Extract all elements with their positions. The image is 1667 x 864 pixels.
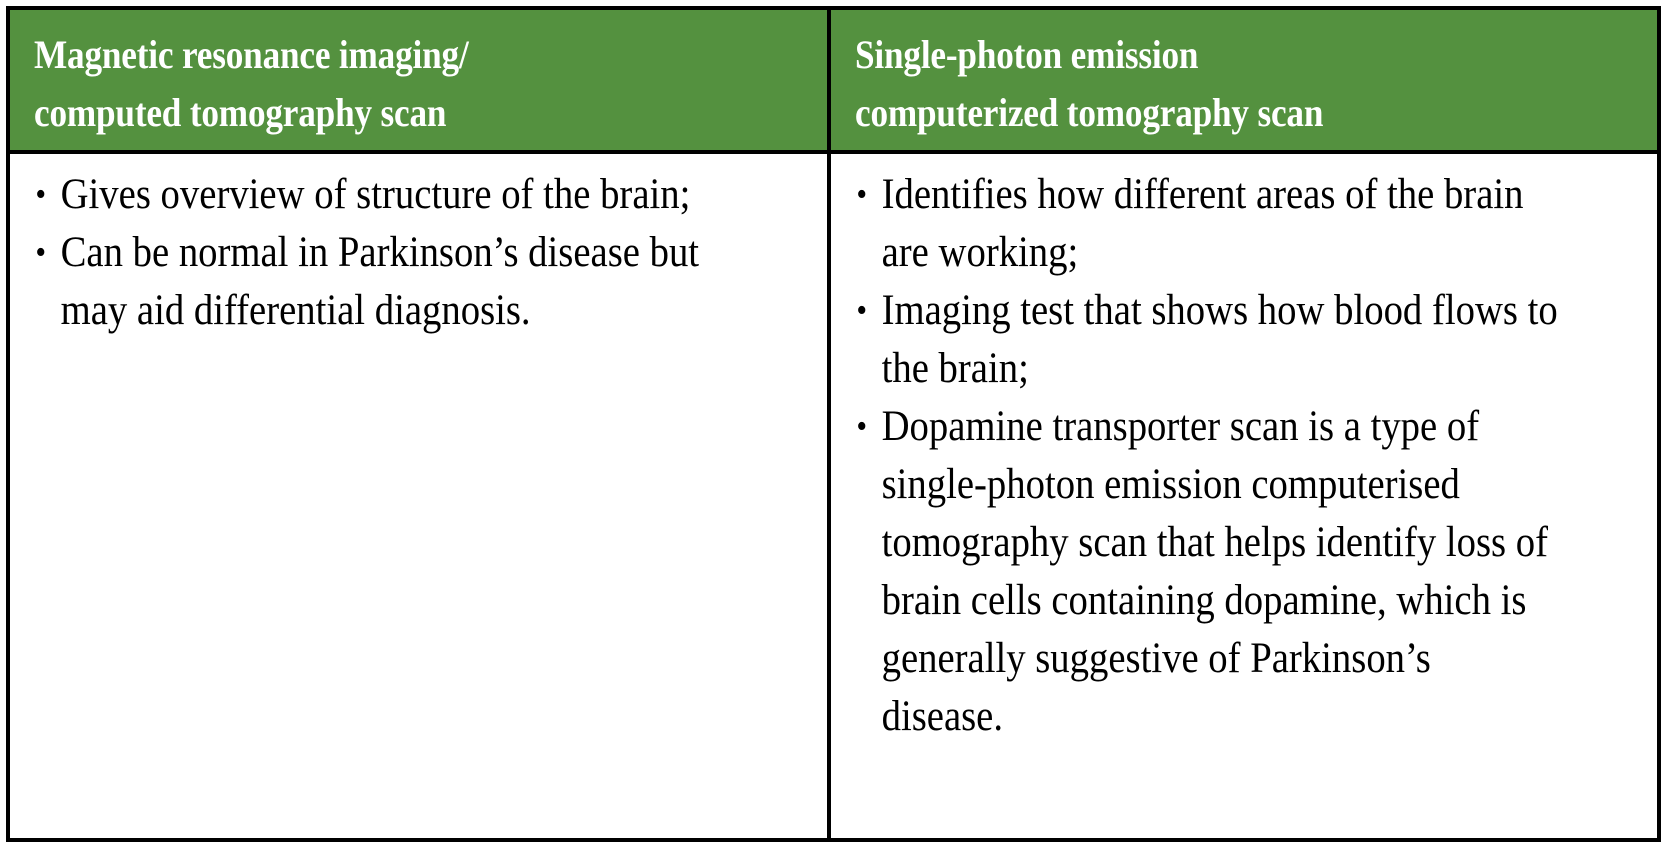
column-header-mri-ct: Magnetic resonance imaging/ computed tom… — [10, 10, 829, 152]
list-item-text: Gives overview of structure of the brain… — [61, 166, 730, 224]
bullet-icon: • — [35, 166, 53, 224]
list-item: • Can be normal in Parkinson’s disease b… — [30, 224, 729, 340]
column-header-spect: Single-photon emission computerized tomo… — [829, 10, 1657, 152]
bullet-list-spect: • Identifies how different areas of the … — [851, 166, 1637, 746]
column-body-mri-ct-inner: • Gives overview of structure of the bra… — [10, 154, 827, 340]
column-header-spect-inner: Single-photon emission computerized tomo… — [831, 10, 1657, 142]
list-item-text: Identifies how different areas of the br… — [882, 166, 1559, 282]
column-header-mri-ct-inner: Magnetic resonance imaging/ computed tom… — [10, 10, 827, 142]
table-body-row: • Gives overview of structure of the bra… — [10, 152, 1657, 838]
column-body-mri-ct: • Gives overview of structure of the bra… — [10, 152, 829, 838]
list-item-text: Imaging test that shows how blood flows … — [882, 282, 1559, 398]
list-item: • Imaging test that shows how blood flow… — [851, 282, 1558, 398]
bullet-icon: • — [35, 224, 53, 282]
bullet-icon: • — [856, 166, 874, 224]
list-item: • Gives overview of structure of the bra… — [30, 166, 729, 224]
bullet-list-mri-ct: • Gives overview of structure of the bra… — [30, 166, 807, 340]
comparison-table-container: Magnetic resonance imaging/ computed tom… — [6, 6, 1661, 842]
list-item: • Dopamine transporter scan is a type of… — [851, 398, 1558, 746]
bullet-icon: • — [856, 398, 874, 456]
list-item: • Identifies how different areas of the … — [851, 166, 1558, 282]
comparison-table: Magnetic resonance imaging/ computed tom… — [10, 10, 1657, 838]
list-item-text: Dopamine transporter scan is a type of s… — [882, 398, 1559, 746]
list-item-text: Can be normal in Parkinson’s disease but… — [61, 224, 730, 340]
table-header-row: Magnetic resonance imaging/ computed tom… — [10, 10, 1657, 152]
column-header-mri-ct-title: Magnetic resonance imaging/ computed tom… — [34, 26, 712, 142]
column-header-spect-title: Single-photon emission computerized tomo… — [855, 26, 1541, 142]
column-body-spect: • Identifies how different areas of the … — [829, 152, 1657, 838]
column-body-spect-inner: • Identifies how different areas of the … — [831, 154, 1657, 746]
bullet-icon: • — [856, 282, 874, 340]
